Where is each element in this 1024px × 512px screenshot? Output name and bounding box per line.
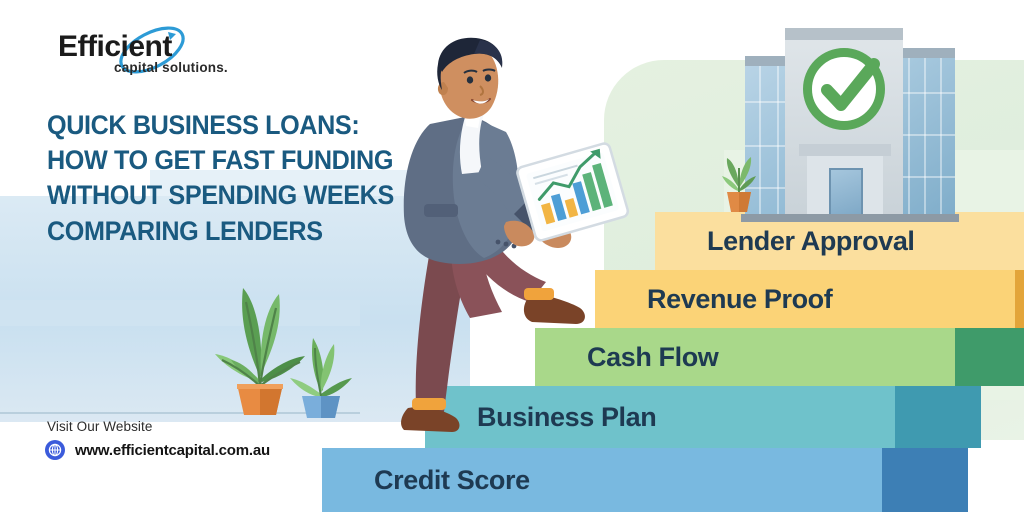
step-side-face <box>895 386 981 448</box>
website-url-text: www.efficientcapital.com.au <box>75 442 270 459</box>
globe-icon <box>45 440 65 460</box>
headline-line-1: QUICK BUSINESS LOANS: <box>47 108 427 143</box>
step-side-face <box>882 448 968 512</box>
logo-tagline: capital solutions. <box>114 60 228 75</box>
building-base <box>741 214 959 222</box>
marketing-banner: Efficient capital solutions. QUICK BUSIN… <box>0 0 1024 512</box>
step-label-credit-score: Credit Score <box>322 465 530 496</box>
office-building-illustration <box>745 18 955 218</box>
building-door <box>829 168 863 218</box>
website-link[interactable]: www.efficientcapital.com.au <box>45 440 270 460</box>
step-side-face <box>955 328 1024 386</box>
businessman-climbing-stairs-illustration <box>378 36 638 466</box>
potted-plant-small-icon <box>282 330 360 420</box>
logo-wordmark: Efficient <box>58 32 172 62</box>
headline-line-2: HOW TO GET FAST FUNDING <box>47 143 427 178</box>
building-roof <box>785 28 903 40</box>
brand-logo[interactable]: Efficient capital solutions. <box>58 30 233 78</box>
visit-website-label: Visit Our Website <box>47 419 153 434</box>
building-canopy <box>799 144 891 156</box>
step-top-face: Revenue Proof <box>595 270 1015 328</box>
potted-plant-on-step-icon <box>710 138 768 216</box>
step-side-face <box>1015 270 1024 328</box>
check-mark-icon <box>807 46 893 132</box>
step-revenue-proof: Revenue Proof <box>595 270 1015 328</box>
step-label-lender-approval: Lender Approval <box>655 226 915 257</box>
